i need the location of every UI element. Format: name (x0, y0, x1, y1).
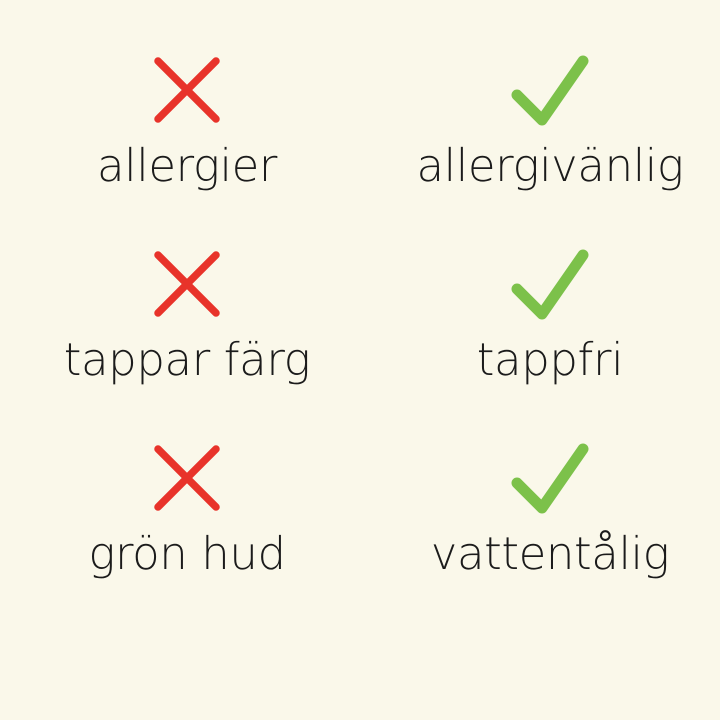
negative-label: tappar färg (64, 336, 310, 383)
cross-icon (151, 54, 223, 130)
cross-icon (151, 442, 223, 518)
check-icon (509, 248, 591, 324)
check-icon (509, 442, 591, 518)
negative-item: grön hud (0, 442, 366, 636)
positive-label: vattentålig (431, 530, 670, 577)
positive-label: allergivänlig (416, 142, 683, 189)
comparison-row: allergier allergivänlig (0, 54, 720, 248)
negative-item: tappar färg (0, 248, 366, 442)
negative-label: allergier (97, 142, 277, 189)
positive-item: vattentålig (366, 442, 720, 636)
negative-label: grön hud (88, 530, 285, 577)
cross-icon (151, 248, 223, 324)
comparison-row: tappar färg tappfri (0, 248, 720, 442)
comparison-board: allergier allergivänlig tappar färg (0, 0, 720, 720)
positive-item: allergivänlig (366, 54, 720, 248)
positive-label: tappfri (477, 336, 623, 383)
negative-item: allergier (0, 54, 366, 248)
comparison-row: grön hud vattentålig (0, 442, 720, 636)
positive-item: tappfri (366, 248, 720, 442)
check-icon (509, 54, 591, 130)
